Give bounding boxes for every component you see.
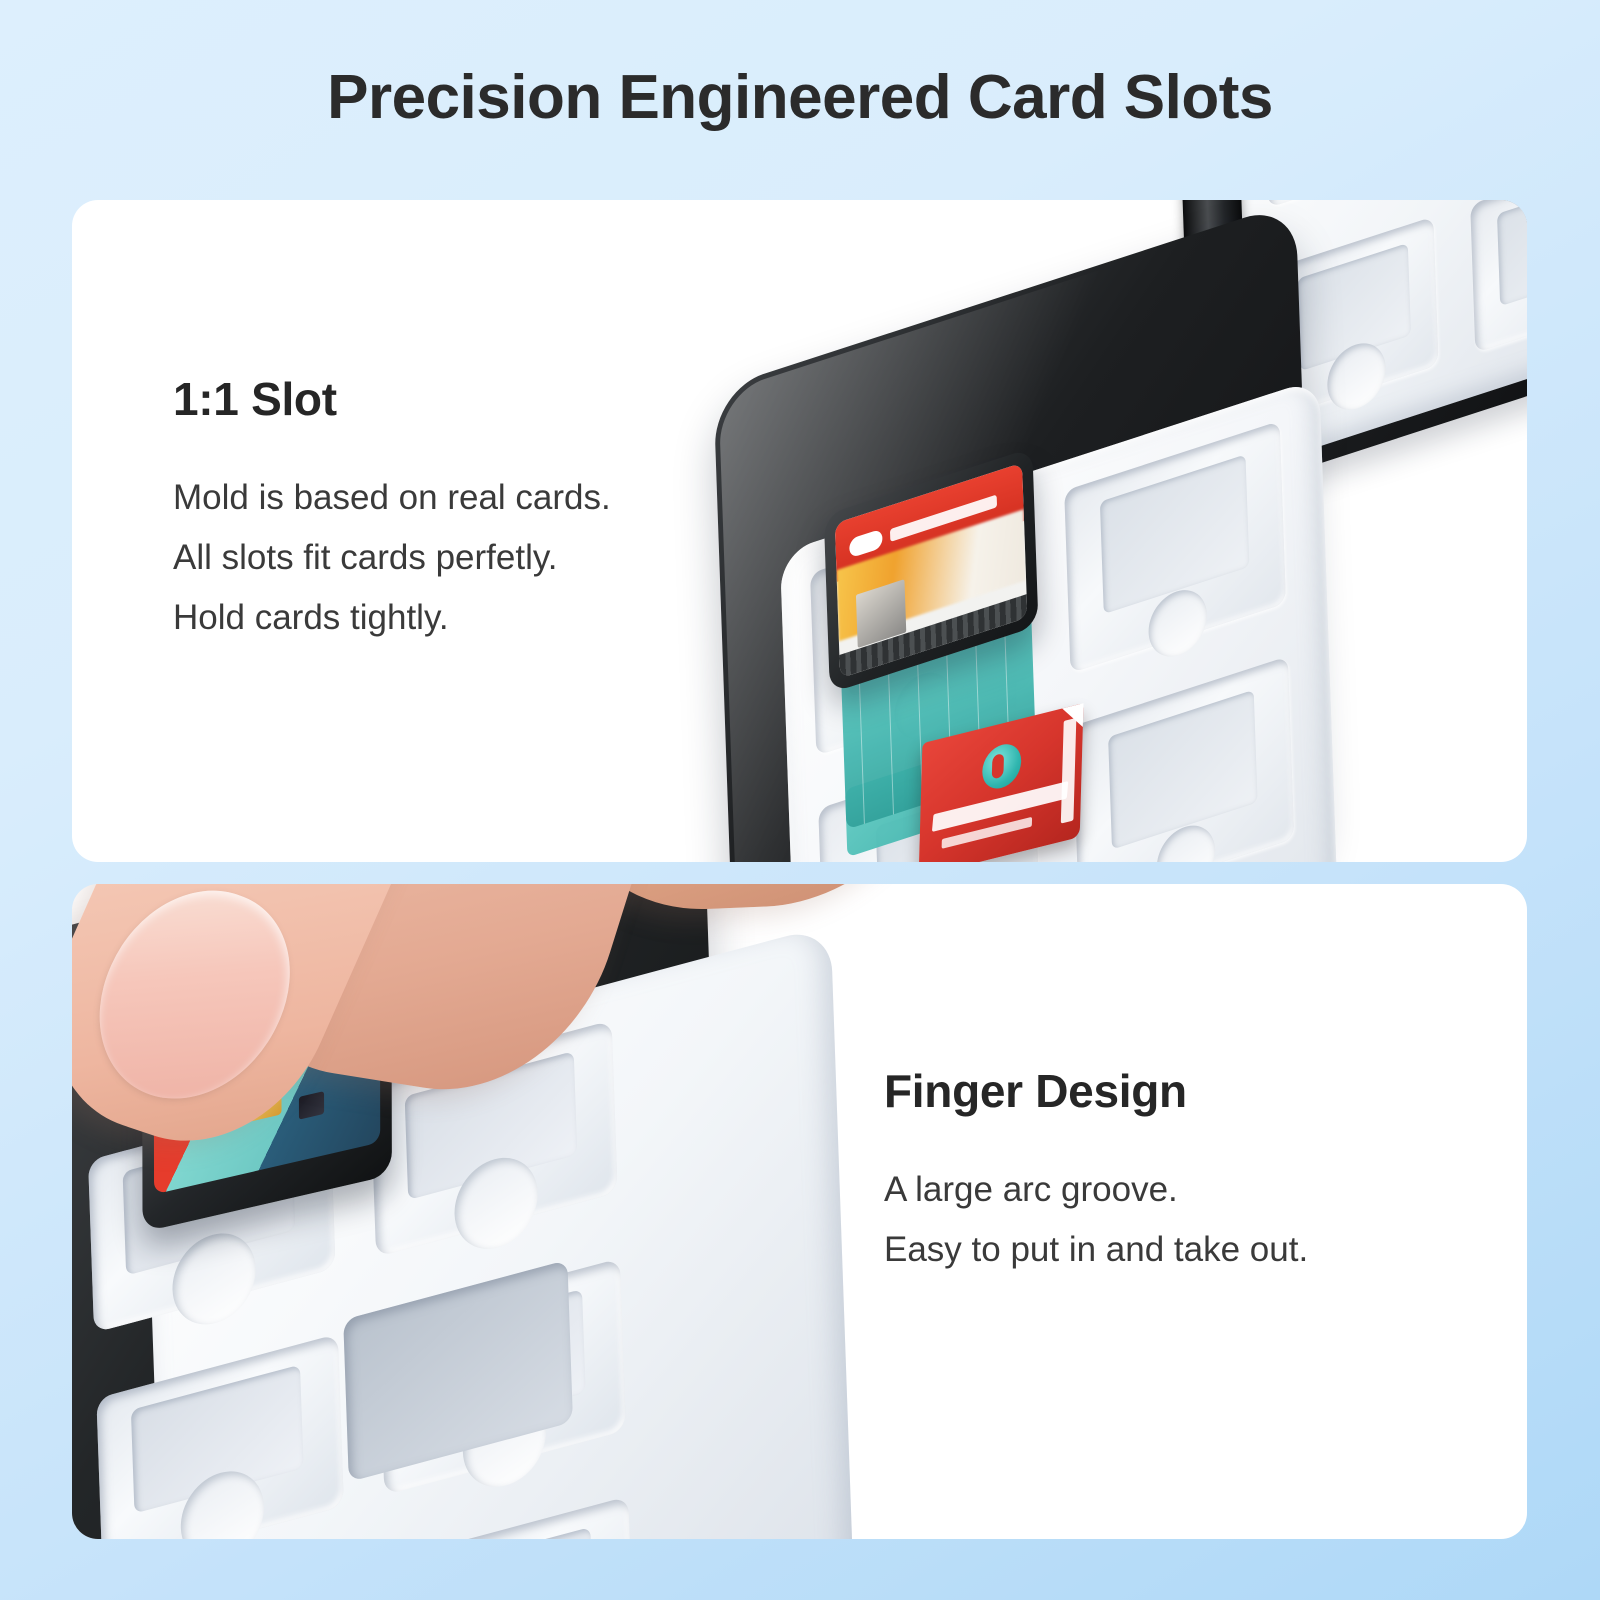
panel-body-line: Mold is based on real cards.: [173, 468, 611, 528]
panel-body-line: All slots fit cards perfetly.: [173, 528, 611, 588]
panel-heading: Finger Design: [884, 1064, 1308, 1118]
feature-panel-one-to-one-slot: 1:1 Slot Mold is based on real cards. Al…: [72, 200, 1527, 862]
lid-slot: [1263, 200, 1431, 208]
case-illustration-closeup: [72, 884, 995, 1539]
product-image-finger-removing-card: [72, 884, 1527, 1539]
panel-heading: 1:1 Slot: [173, 372, 611, 426]
case-illustration: [669, 200, 1527, 862]
panel-one-text-block: 1:1 Slot Mold is based on real cards. Al…: [173, 372, 611, 649]
sandisk-wordmark: [1061, 718, 1077, 823]
nintendo-logo-icon: [849, 528, 883, 558]
sandisk-logo-icon: [982, 740, 1022, 793]
base-slot: [1064, 421, 1286, 673]
panel-two-text-block: Finger Design A large arc groove. Easy t…: [884, 1064, 1308, 1280]
case-base-shell: [713, 201, 1318, 862]
page-title: Precision Engineered Card Slots: [0, 62, 1600, 133]
panel-body-line: Easy to put in and take out.: [884, 1220, 1308, 1280]
panel-body-line: A large arc groove.: [884, 1160, 1308, 1220]
panel-body-line: Hold cards tightly.: [173, 588, 611, 648]
hand-illustration: [72, 884, 995, 1539]
lid-slot: [1470, 200, 1527, 353]
feature-panel-finger-design: Finger Design A large arc groove. Easy t…: [72, 884, 1527, 1539]
base-slot: [1072, 656, 1294, 862]
